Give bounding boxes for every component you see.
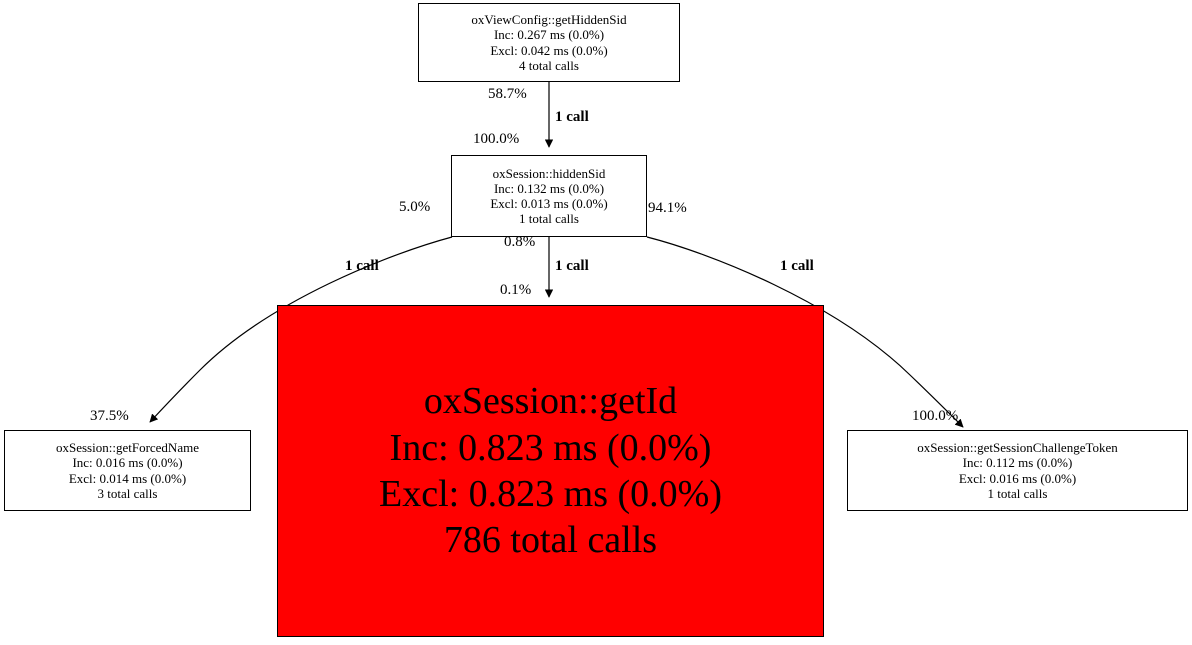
node-inclusive: Inc: 0.132 ms (0.0%) [494, 181, 604, 196]
edge-label-calls-e4: 1 call [780, 258, 814, 275]
node-exclusive: Excl: 0.013 ms (0.0%) [490, 196, 607, 211]
node-exclusive: Excl: 0.016 ms (0.0%) [959, 471, 1076, 486]
node-calls: 1 total calls [519, 211, 579, 226]
node-calls: 786 total calls [444, 517, 657, 563]
node-title: oxSession::hiddenSid [493, 166, 606, 181]
node-exclusive: Excl: 0.042 ms (0.0%) [490, 43, 607, 58]
node-getSessionChallengeToken[interactable]: oxSession::getSessionChallengeToken Inc:… [847, 430, 1188, 511]
edge-label-head-percent-e2: 37.5% [90, 408, 129, 425]
node-calls: 4 total calls [519, 58, 579, 73]
node-inclusive: Inc: 0.016 ms (0.0%) [72, 455, 182, 470]
node-calls: 1 total calls [988, 486, 1048, 501]
node-inclusive: Inc: 0.823 ms (0.0%) [390, 425, 712, 471]
node-title: oxSession::getForcedName [56, 440, 199, 455]
edge-label-tail-percent-e4: 94.1% [648, 200, 687, 217]
edge-label-head-percent-e4: 100.0% [912, 408, 958, 425]
edge-label-head-percent-e3: 0.1% [500, 282, 531, 299]
node-getForcedName[interactable]: oxSession::getForcedName Inc: 0.016 ms (… [4, 430, 251, 511]
node-title: oxViewConfig::getHiddenSid [471, 12, 626, 27]
edge-label-tail-percent-e2: 5.0% [399, 199, 430, 216]
edge-label-head-percent-e1: 100.0% [473, 131, 519, 148]
node-inclusive: Inc: 0.112 ms (0.0%) [963, 455, 1073, 470]
edge-label-tail-percent-e1: 58.7% [488, 86, 527, 103]
edge-label-calls-e3: 1 call [555, 258, 589, 275]
node-calls: 3 total calls [98, 486, 158, 501]
node-getId[interactable]: oxSession::getId Inc: 0.823 ms (0.0%) Ex… [277, 305, 824, 637]
node-getHiddenSid[interactable]: oxViewConfig::getHiddenSid Inc: 0.267 ms… [418, 3, 680, 82]
node-hiddenSid[interactable]: oxSession::hiddenSid Inc: 0.132 ms (0.0%… [451, 155, 647, 237]
call-graph-canvas: oxViewConfig::getHiddenSid Inc: 0.267 ms… [0, 0, 1192, 645]
node-inclusive: Inc: 0.267 ms (0.0%) [494, 27, 604, 42]
node-title: oxSession::getSessionChallengeToken [917, 440, 1118, 455]
edge-label-calls-e2: 1 call [345, 258, 379, 275]
node-title: oxSession::getId [424, 378, 677, 424]
node-exclusive: Excl: 0.014 ms (0.0%) [69, 471, 186, 486]
edge-label-calls-e1: 1 call [555, 109, 589, 126]
node-exclusive: Excl: 0.823 ms (0.0%) [379, 471, 722, 517]
edge-label-tail-percent-e3: 0.8% [504, 234, 535, 251]
